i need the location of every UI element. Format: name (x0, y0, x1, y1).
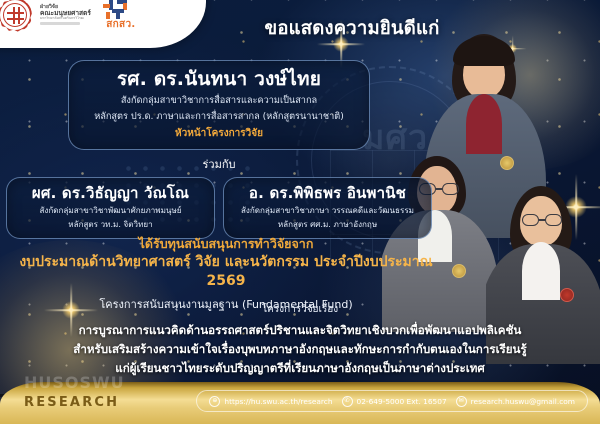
coauthor-1-dept-line1: สังกัดกลุ่มสาขาวิชาพัฒนาศักยภาพมนุษย์ (15, 205, 206, 217)
faculty-logo-text: ฝ่ายวิจัย คณะมนุษยศาสตร์ มหาวิทยาลัยศรีน… (40, 5, 91, 25)
coauthor-card-2: อ. ดร.พิพิธพร อินพานิช สังกัดกลุ่มสาขาวิ… (223, 177, 432, 238)
header-white-band: ฝ่ายวิจัย คณะมนุษยศาสตร์ มหาวิทยาลัยศรีน… (0, 0, 206, 48)
lead-researcher-dept-line2: หลักสูตร ปร.ด. ภาษาและการสื่อสารสากล (หล… (83, 110, 355, 124)
logo-underline (40, 22, 80, 25)
research-title-line2: สำหรับเสริมสร้างความเข้าใจเรื่องบุพบทภาษ… (22, 340, 578, 359)
researcher-stack: รศ. ดร.นันทนา วงษ์ไทย สังกัดกลุ่มสาขาวิช… (0, 60, 438, 239)
coauthor-2-dept-line2: หลักสูตร ศศ.ม. ภาษาอังกฤษ (232, 219, 423, 231)
mail-icon: ✉ (456, 396, 467, 407)
coauthor-1-dept-line2: หลักสูตร วท.ม. จิตวิทยา (15, 219, 206, 231)
lead-researcher-dept-line1: สังกัดกลุ่มสาขาวิชาการสื่อสารและความเป็น… (83, 94, 355, 108)
footer-bar: HUSOSWU RESEARCH ⊕ https://hu.swu.ac.th/… (0, 382, 600, 424)
coauthor-2-dept-line1: สังกัดกลุ่มสาขาวิชาภาษา วรรณคดีและวัฒนธร… (232, 205, 423, 217)
coauthor-card-1: ผศ. ดร.วิธัญญา วัณโณ สังกัดกลุ่มสาขาวิชา… (6, 177, 215, 238)
research-block: โครงการวิจัยเรื่อง การบูรณาการแนวคิดด้าน… (0, 302, 600, 377)
contact-email-text: research.huswu@gmail.com (471, 397, 575, 406)
coauthor-2-name: อ. ดร.พิพิธพร อินพานิช (232, 184, 423, 203)
funding-line2: งบประมาณด้านวิทยาศาสตร์ วิจัย และนวัตกรร… (0, 253, 452, 291)
contact-email[interactable]: ✉ research.huswu@gmail.com (456, 396, 575, 407)
footer-watermark: HUSOSWU (24, 373, 125, 392)
tsri-logo: สกสว. (99, 0, 143, 30)
lead-researcher-name: รศ. ดร.นันทนา วงษ์ไทย (83, 68, 355, 92)
globe-icon: ⊕ (209, 396, 220, 407)
contact-phone-text: 02-649-5000 Ext. 16507 (357, 397, 447, 406)
faculty-logo-line3: มหาวิทยาลัยศรีนครินทรวิโรฒ (40, 17, 91, 21)
tsri-logo-name: สกสว. (99, 20, 143, 30)
faculty-seal-icon (0, 0, 32, 32)
join-with-label: ร่วมกับ (0, 155, 438, 173)
lead-researcher-card: รศ. ดร.นันทนา วงษ์ไทย สังกัดกลุ่มสาขาวิช… (68, 60, 370, 150)
coauthor-1-name: ผศ. ดร.วิธัญญา วัณโณ (15, 184, 206, 203)
contact-phone[interactable]: ✆ 02-649-5000 Ext. 16507 (342, 396, 447, 407)
lead-researcher-role: หัวหน้าโครงการวิจัย (83, 126, 355, 141)
contact-website-text: https://hu.swu.ac.th/research (224, 397, 332, 406)
contact-website[interactable]: ⊕ https://hu.swu.ac.th/research (209, 396, 332, 407)
footer-brand: RESEARCH (24, 395, 119, 410)
congratulation-poster: มศว (0, 0, 600, 424)
research-label: โครงการวิจัยเรื่อง (22, 302, 578, 317)
footer-contact-group: ⊕ https://hu.swu.ac.th/research ✆ 02-649… (196, 390, 588, 412)
funding-line1: ได้รับทุนสนับสนุนการทำวิจัยจาก (0, 236, 452, 253)
tsri-mark-icon (99, 0, 143, 19)
coauthor-row: ผศ. ดร.วิธัญญา วัณโณ สังกัดกลุ่มสาขาวิชา… (0, 177, 438, 238)
logo-group: ฝ่ายวิจัย คณะมนุษยศาสตร์ มหาวิทยาลัยศรีน… (0, 0, 143, 32)
phone-icon: ✆ (342, 396, 353, 407)
research-title-line1: การบูรณาการแนวคิดด้านอรรถศาสตร์ปริชานและ… (22, 321, 578, 340)
page-title: ขอแสดงความยินดีแก่ (232, 14, 472, 43)
